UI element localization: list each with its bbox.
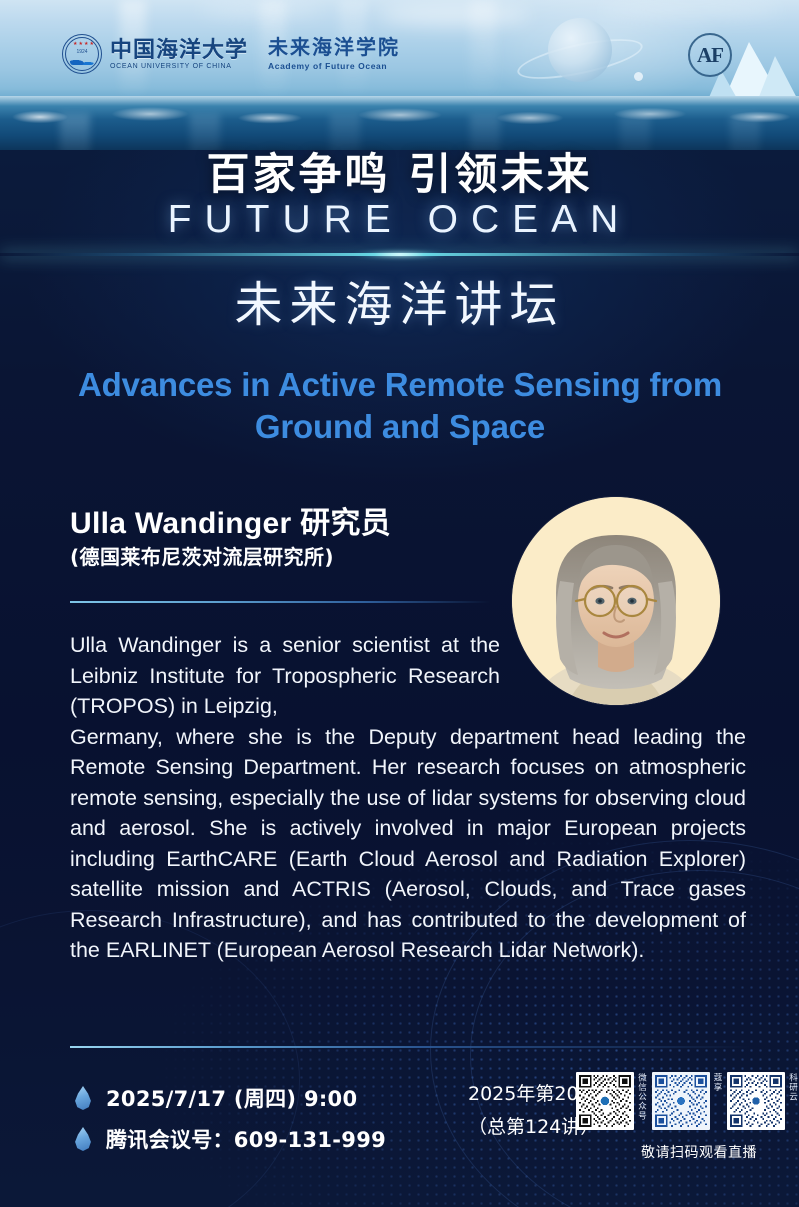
university-name-cn: 中国海洋大学 — [110, 38, 248, 61]
qr-label-research-cloud: 科研云 — [788, 1072, 797, 1130]
ouc-logo-lockup: ★★★★ 1924 中国海洋大学 OCEAN UNIVERSITY OF CHI… — [62, 34, 400, 74]
lecture-title: Advances in Active Remote Sensing from G… — [44, 364, 756, 448]
qr-unit-wechat: 微信公众号 — [576, 1072, 646, 1130]
academy-name-cn: 未来海洋学院 — [268, 38, 400, 59]
slogan-en: FUTURE OCEAN — [0, 198, 799, 242]
datetime-row: 2025/7/17 (周四) 9:00 — [74, 1083, 357, 1113]
qr-unit-research-cloud: 科研云 — [727, 1072, 797, 1130]
qr-code-wechat[interactable] — [576, 1072, 634, 1130]
speaker-bio: Ulla Wandinger is a senior scientist at … — [70, 630, 746, 966]
water-drop-icon — [74, 1127, 92, 1151]
qr-code-group: 微信公众号 — [576, 1072, 797, 1130]
slogan-cn: 百家争鸣 引领未来 — [0, 140, 799, 202]
bio-paragraph-indent: Ulla Wandinger is a senior scientist at … — [70, 630, 500, 722]
qr-unit-koushare: 蔻享 — [652, 1072, 722, 1130]
section-divider-bottom — [70, 1046, 750, 1048]
meeting-row: 腾讯会议号：609-131-999 — [74, 1124, 386, 1154]
event-datetime: 2025/7/17 (周四) 9:00 — [106, 1083, 357, 1113]
planet-icon — [548, 18, 612, 82]
qr-code-koushare[interactable] — [652, 1072, 710, 1130]
bio-paragraph-main: Germany, where she is the Deputy departm… — [70, 725, 746, 963]
af-logo: AF — [688, 33, 732, 77]
qr-code-research-cloud[interactable] — [727, 1072, 785, 1130]
meeting-id: 腾讯会议号：609-131-999 — [106, 1124, 386, 1154]
glow-highlight — [340, 249, 460, 260]
speaker-affiliation: (德国莱布尼茨对流层研究所) — [70, 541, 334, 570]
academy-name-en: Academy of Future Ocean — [268, 61, 400, 71]
speaker-name: Ulla Wandinger 研究员 — [70, 498, 391, 542]
qr-label-wechat: 微信公众号 — [637, 1072, 646, 1130]
header-banner: ★★★★ 1924 中国海洋大学 OCEAN UNIVERSITY OF CHI… — [0, 0, 799, 100]
ouc-seal-icon: ★★★★ 1924 — [62, 34, 102, 74]
poster-root: ★★★★ 1924 中国海洋大学 OCEAN UNIVERSITY OF CHI… — [0, 0, 799, 1207]
university-name-en: OCEAN UNIVERSITY OF CHINA — [110, 63, 248, 70]
water-drop-icon — [74, 1086, 92, 1110]
scan-live-note: 敬请扫码观看直播 — [604, 1142, 794, 1162]
qr-label-koushare: 蔻享 — [713, 1072, 722, 1130]
moon-icon — [634, 72, 643, 81]
af-monogram: AF — [688, 33, 732, 77]
forum-name-cn: 未来海洋讲坛 — [0, 265, 799, 335]
section-divider-top — [70, 601, 490, 603]
